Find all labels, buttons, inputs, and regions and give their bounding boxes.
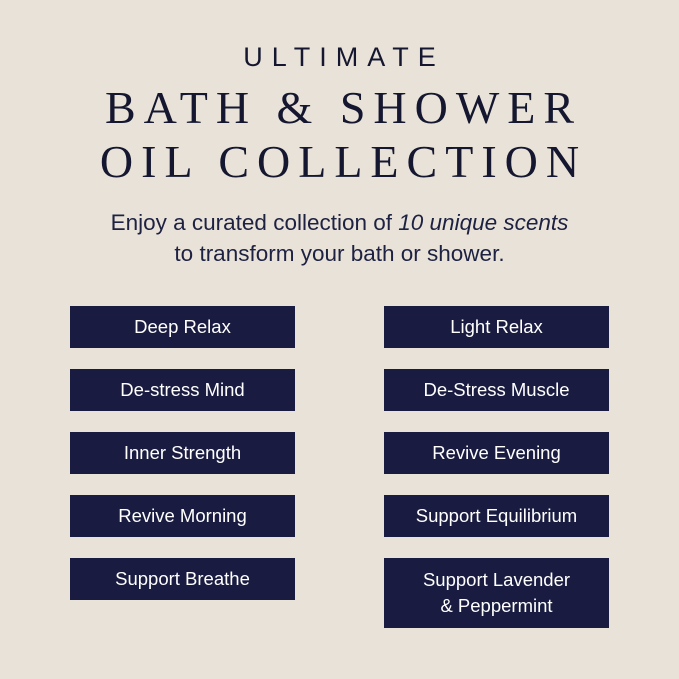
scent-label-line-two: & Peppermint xyxy=(423,593,570,619)
scent-label: De-stress Mind xyxy=(120,378,244,402)
scent-label: Support Equilibrium xyxy=(416,504,577,528)
scent-label: Revive Evening xyxy=(432,441,561,465)
scent-chip-support-lavender-peppermint[interactable]: Support Lavender & Peppermint xyxy=(384,558,609,628)
scent-chip-de-stress-mind[interactable]: De-stress Mind xyxy=(70,369,295,411)
subtitle-line-one: Enjoy a curated collection of 10 unique … xyxy=(111,210,569,235)
eyebrow-heading: ULTIMATE xyxy=(0,40,679,74)
scent-chip-support-equilibrium[interactable]: Support Equilibrium xyxy=(384,495,609,537)
scent-column-right: Light Relax De-Stress Muscle Revive Even… xyxy=(384,306,609,649)
title-line-two: OIL COLLECTION xyxy=(0,134,679,190)
scent-chip-support-breathe[interactable]: Support Breathe xyxy=(70,558,295,600)
scent-label-wrapper: Support Lavender & Peppermint xyxy=(423,567,570,619)
subtitle-text: Enjoy a curated collection of 10 unique … xyxy=(0,207,679,269)
scent-chip-de-stress-muscle[interactable]: De-Stress Muscle xyxy=(384,369,609,411)
subtitle-lead-text: Enjoy a curated collection of xyxy=(111,210,399,235)
scent-label: Light Relax xyxy=(450,315,543,339)
scent-chip-inner-strength[interactable]: Inner Strength xyxy=(70,432,295,474)
scent-chip-revive-evening[interactable]: Revive Evening xyxy=(384,432,609,474)
scent-chip-light-relax[interactable]: Light Relax xyxy=(384,306,609,348)
title-line-one: BATH & SHOWER xyxy=(0,80,679,136)
subtitle-emphasis-text: 10 unique scents xyxy=(398,210,568,235)
subtitle-line-two: to transform your bath or shower. xyxy=(174,241,504,266)
scent-column-left: Deep Relax De-stress Mind Inner Strength… xyxy=(70,306,295,649)
scent-chip-deep-relax[interactable]: Deep Relax xyxy=(70,306,295,348)
scent-label: De-Stress Muscle xyxy=(424,378,570,402)
scent-chip-revive-morning[interactable]: Revive Morning xyxy=(70,495,295,537)
scent-label: Inner Strength xyxy=(124,441,241,465)
scent-label: Deep Relax xyxy=(134,315,231,339)
header-block: ULTIMATE BATH & SHOWER OIL COLLECTION xyxy=(0,0,679,190)
scent-label: Support Breathe xyxy=(115,567,250,591)
scent-label-line-one: Support Lavender xyxy=(423,567,570,593)
scent-label: Revive Morning xyxy=(118,504,247,528)
scent-grid: Deep Relax De-stress Mind Inner Strength… xyxy=(0,306,679,649)
poster-canvas: ULTIMATE BATH & SHOWER OIL COLLECTION En… xyxy=(0,0,679,679)
